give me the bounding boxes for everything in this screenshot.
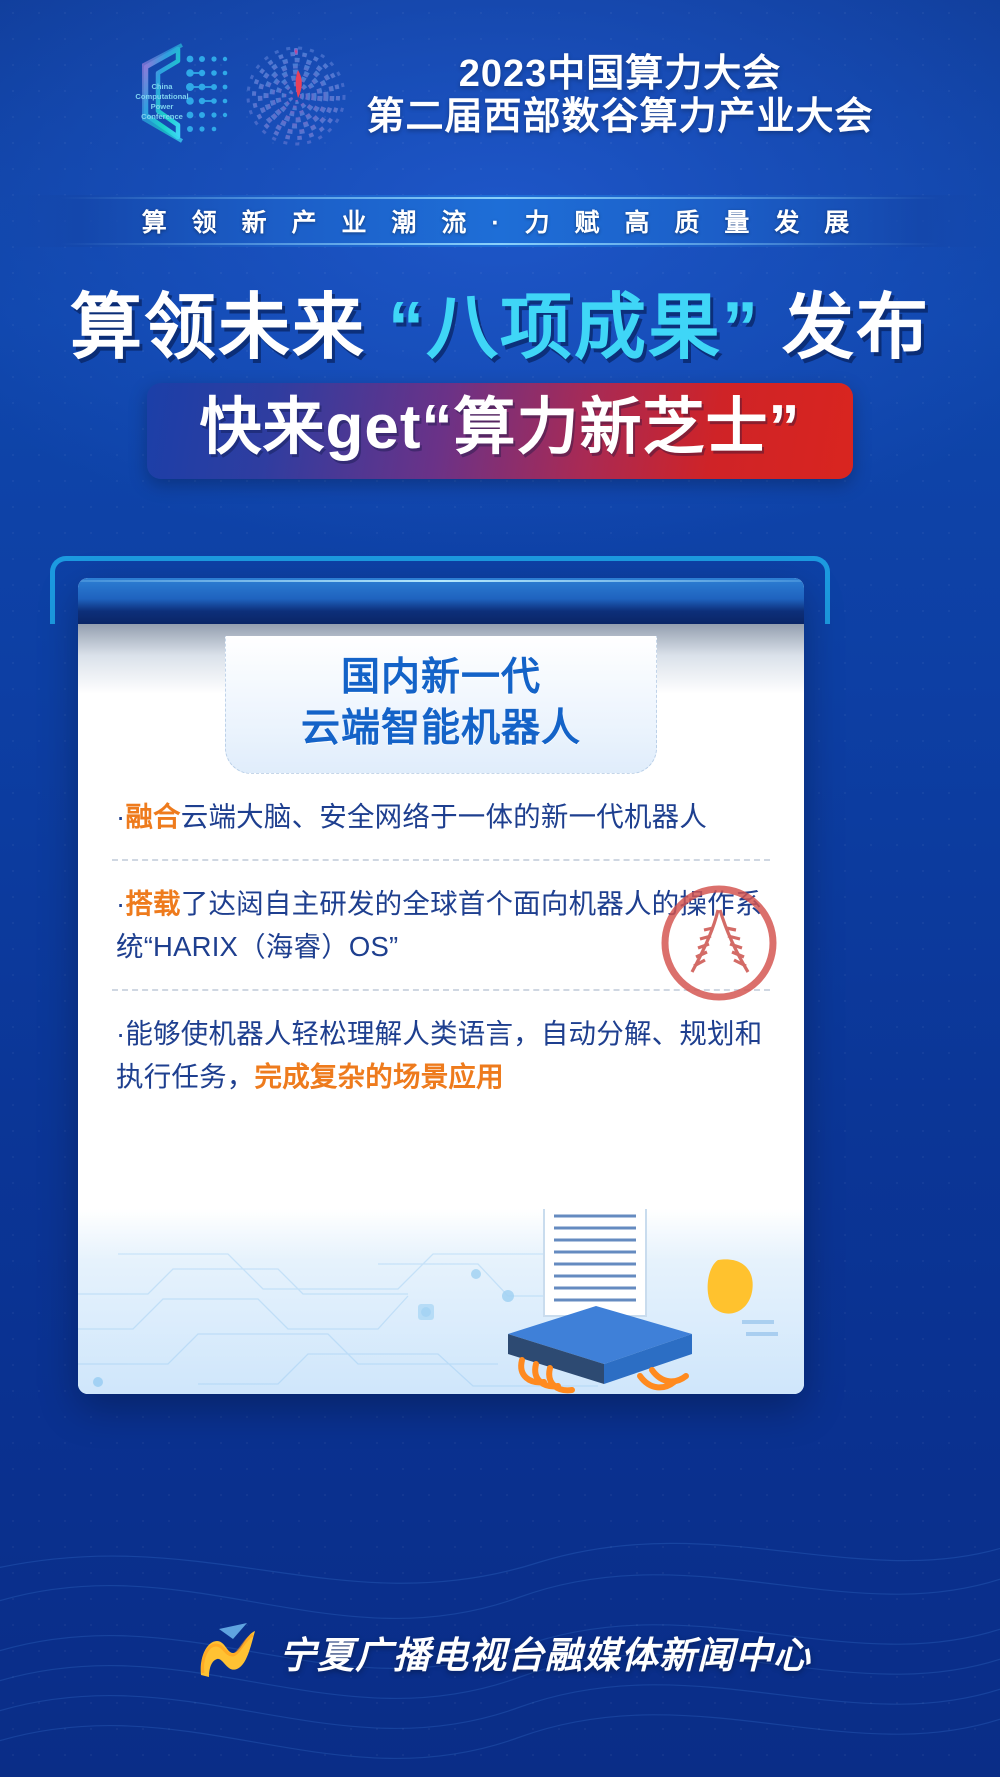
- main-title-highlight: “八项成果”: [388, 288, 760, 368]
- server-document-illustration: [456, 1209, 786, 1394]
- footer-channel-name: 宁夏广播电视台融媒体新闻中心: [279, 1625, 811, 1679]
- card-illustration-area: [78, 1209, 804, 1394]
- card-bullet-1: ·融合云端大脑、安全网络于一体的新一代机器人: [112, 774, 770, 861]
- ningxia-broadcast-logo-icon: [189, 1613, 267, 1691]
- slogan-text: 算 领 新 产 业 潮 流 · 力 赋 高 质 量 发 展: [142, 203, 859, 239]
- bullet-3-tail-highlight: 完成复杂的场景应用: [255, 1061, 504, 1092]
- main-title-line1: 算领未来 “八项成果” 发布: [70, 288, 930, 369]
- logo-text-line3: Power: [151, 102, 174, 111]
- card-body: ·融合云端大脑、安全网络于一体的新一代机器人 ·搭载了达闼自主研发的全球首个面向…: [78, 774, 804, 1118]
- logo-text-line1: China: [152, 82, 174, 91]
- digital-fan-logo-icon: [244, 40, 348, 152]
- header-title-block: 2023中国算力大会 第二届西部数谷算力产业大会: [366, 53, 873, 138]
- card-heading-line1: 国内新一代: [236, 652, 646, 703]
- slogan-bar: 算 领 新 产 业 潮 流 · 力 赋 高 质 量 发 展: [0, 195, 1000, 247]
- bullet-1-marker: ·: [116, 801, 125, 832]
- card-top-bar: [78, 578, 804, 624]
- main-title-block: 算领未来 “八项成果” 发布 快来get“算力新芝士”: [0, 288, 1000, 479]
- logo-text-line2: Computational: [136, 92, 189, 101]
- china-computational-power-conference-logo-icon: China Computational Power Conference: [126, 37, 238, 155]
- card-bullet-2: ·搭载了达闼自主研发的全球首个面向机器人的操作系统“HARIX（海睿）OS”: [112, 861, 770, 991]
- bullet-1-text: ·融合云端大脑、安全网络于一体的新一代机器人: [116, 796, 766, 839]
- bullet-1-rest: 云端大脑、安全网络于一体的新一代机器人: [181, 801, 707, 832]
- bullet-2-highlight: 搭载: [125, 888, 180, 919]
- main-title-banner: 快来get“算力新芝士”: [147, 383, 852, 479]
- main-title-line2: 快来get“算力新芝士”: [199, 391, 800, 465]
- poster-header: China Computational Power Conference: [0, 0, 1000, 192]
- bullet-2-marker: ·: [116, 888, 125, 919]
- main-title-part3: 发布: [760, 288, 930, 368]
- bullet-2-rest: 了达闼自主研发的全球首个面向机器人的操作系统“HARIX（海睿）OS”: [116, 888, 762, 962]
- conference-title-line2: 第二届西部数谷算力产业大会: [366, 96, 873, 139]
- bullet-2-text: ·搭载了达闼自主研发的全球首个面向机器人的操作系统“HARIX（海睿）OS”: [116, 883, 766, 969]
- card-bullet-3: ·能够使机器人轻松理解人类语言，自动分解、规划和执行任务，完成复杂的场景应用: [112, 991, 770, 1119]
- bullet-3-text: ·能够使机器人轻松理解人类语言，自动分解、规划和执行任务，完成复杂的场景应用: [116, 1013, 766, 1099]
- result-card: 国内新一代 云端智能机器人 ·融合云端大脑、安全网络于一体的新一代机器人 ·搭载…: [78, 578, 804, 1394]
- bullet-3-marker: ·: [116, 1018, 125, 1049]
- poster-background: China Computational Power Conference: [0, 0, 1000, 1777]
- conference-title-line1: 2023中国算力大会: [459, 53, 782, 96]
- card-heading-pill: 国内新一代 云端智能机器人: [225, 636, 657, 774]
- header-logos: China Computational Power Conference: [126, 37, 348, 155]
- main-title-part1: 算领未来: [70, 288, 388, 368]
- logo-text-line4: Conference: [142, 112, 184, 121]
- bullet-1-highlight: 融合: [125, 801, 180, 832]
- poster-footer: 宁夏广播电视台融媒体新闻中心: [0, 1527, 1000, 1777]
- card-heading-line2: 云端智能机器人: [236, 703, 646, 754]
